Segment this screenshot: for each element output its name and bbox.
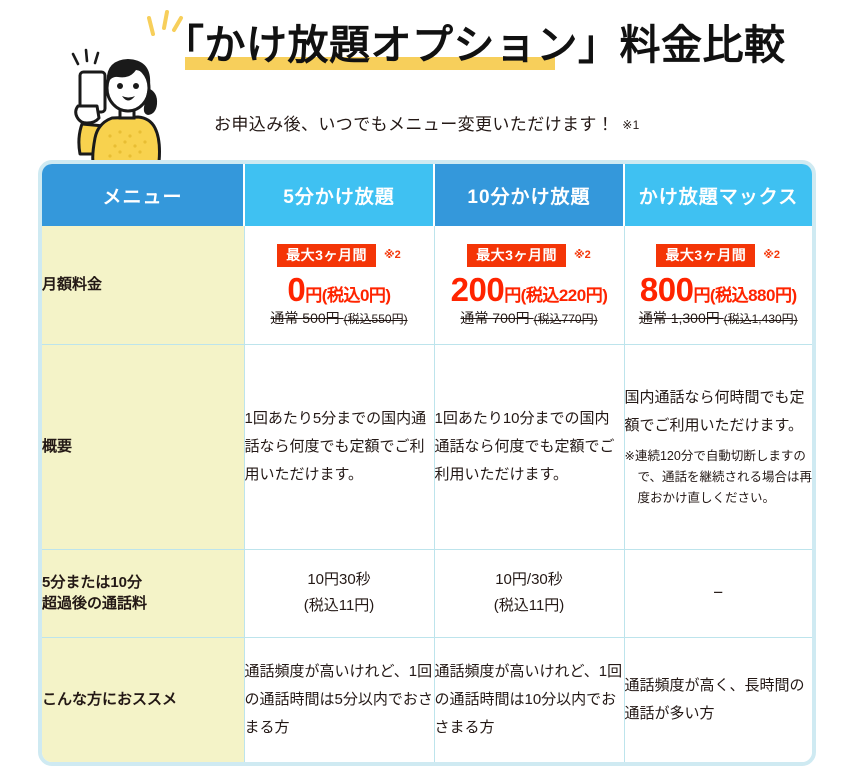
cell-overview-max: 国内通話なら何時間でも定額でご利用いただけます。 ※連続120分で自動切断します…: [624, 344, 812, 549]
price-current: 0円(税込0円): [287, 272, 390, 308]
page-title: 「かけ放題オプション」料金比較: [163, 16, 786, 74]
page-subtitle: お申込み後、いつでもメニュー変更いただけます！※1: [214, 112, 640, 138]
overage-rate-tax: (税込11円): [494, 597, 565, 614]
price-original-tax: (税込550円): [344, 312, 408, 326]
price-current: 200円(税込220円): [451, 272, 608, 308]
cell-overage-5min: 10円30秒 (税込11円): [244, 549, 434, 637]
cell-overview-5min: 1回あたり5分までの国内通話なら何度でも定額でご利用いただけます。: [244, 344, 434, 549]
table-row-monthly-fee: 月額料金 最大3ヶ月間 ※2 0円(税込0円) 通常 500円 (税込550円): [42, 226, 812, 344]
price-original: 通常 500円 (税込550円): [270, 311, 407, 325]
promo-badge-note: ※2: [763, 250, 780, 261]
overage-rate: 10円30秒: [307, 571, 370, 588]
cell-monthly-fee-5min: 最大3ヶ月間 ※2 0円(税込0円) 通常 500円 (税込550円): [244, 226, 434, 344]
price-original-base: 通常 500円: [270, 310, 343, 326]
overview-footnote: ※連続120分で自動切断しますので、通話を継続される場合は再度おかけ直しください…: [625, 446, 813, 509]
price-original-tax: (税込770円): [534, 312, 598, 326]
price-amount: 800: [640, 271, 694, 308]
column-header-10min: 10分かけ放題: [434, 164, 624, 226]
promo-badge: 最大3ヶ月間: [467, 244, 566, 267]
price-amount: 200: [451, 271, 505, 308]
page-subtitle-note: ※1: [622, 118, 640, 132]
table-row-overview: 概要 1回あたり5分までの国内通話なら何度でも定額でご利用いただけます。 1回あ…: [42, 344, 812, 549]
promo-badge-note: ※2: [384, 250, 401, 261]
cell-overage-max: −: [624, 549, 812, 637]
price-original-base: 通常 700円: [460, 310, 533, 326]
overview-text: 国内通話なら何時間でも定額でご利用いただけます。: [625, 384, 813, 440]
page-title-wrap: 「かけ放題オプション」料金比較: [163, 16, 763, 74]
cell-recommended-max: 通話頻度が高く、長時間の通話が多い方: [624, 637, 812, 762]
row-label-overage-line1: 5分または10分: [42, 574, 142, 591]
page-subtitle-text: お申込み後、いつでもメニュー変更いただけます！: [214, 115, 614, 134]
table-header-row: メニュー 5分かけ放題 10分かけ放題 かけ放題マックス: [42, 164, 812, 226]
overage-rate: 10円/30秒: [495, 571, 563, 588]
row-label-recommended-for: こんな方におススメ: [42, 637, 244, 762]
cell-monthly-fee-max: 最大3ヶ月間 ※2 800円(税込880円) 通常 1,300円 (税込1,43…: [624, 226, 812, 344]
price-current: 800円(税込880円): [640, 272, 797, 308]
promo-badge-note: ※2: [574, 250, 591, 261]
overview-text: 1回あたり5分までの国内通話なら何度でも定額でご利用いただけます。: [245, 405, 434, 489]
overage-rate-none: −: [713, 583, 723, 602]
price-amount: 0: [287, 271, 305, 308]
row-label-overview: 概要: [42, 344, 244, 549]
row-label-overage-line2: 超過後の通話料: [42, 595, 147, 612]
price-original-base: 通常 1,300円: [639, 310, 724, 326]
cell-overview-10min: 1回あたり10分までの国内通話なら何度でも定額でご利用いただけます。: [434, 344, 624, 549]
price-unit: 円(税込0円): [305, 286, 390, 305]
pricing-comparison-table-frame: メニュー 5分かけ放題 10分かけ放題 かけ放題マックス 月額料金 最大3ヶ月間…: [38, 160, 816, 766]
price-original: 通常 1,300円 (税込1,430円): [639, 311, 798, 325]
cell-monthly-fee-10min: 最大3ヶ月間 ※2 200円(税込220円) 通常 700円 (税込770円): [434, 226, 624, 344]
overview-text: 1回あたり10分までの国内通話なら何度でも定額でご利用いただけます。: [435, 405, 624, 489]
row-label-monthly-fee: 月額料金: [42, 226, 244, 344]
column-header-5min: 5分かけ放題: [244, 164, 434, 226]
recommended-text: 通話頻度が高いけれど、1回の通話時間は10分以内でおさまる方: [435, 658, 624, 742]
table-row-overage-rate: 5分または10分 超過後の通話料 10円30秒 (税込11円) 10円/30秒 …: [42, 549, 812, 637]
promo-badge: 最大3ヶ月間: [277, 244, 376, 267]
recommended-text: 通話頻度が高いけれど、1回の通話時間は5分以内でおさまる方: [245, 658, 434, 742]
table-row-recommended-for: こんな方におススメ 通話頻度が高いけれど、1回の通話時間は5分以内でおさまる方 …: [42, 637, 812, 762]
cell-recommended-5min: 通話頻度が高いけれど、1回の通話時間は5分以内でおさまる方: [244, 637, 434, 762]
cell-overage-10min: 10円/30秒 (税込11円): [434, 549, 624, 637]
recommended-text: 通話頻度が高く、長時間の通話が多い方: [625, 672, 813, 728]
pricing-comparison-table: メニュー 5分かけ放題 10分かけ放題 かけ放題マックス 月額料金 最大3ヶ月間…: [42, 164, 812, 762]
overage-rate-tax: (税込11円): [304, 597, 375, 614]
cell-recommended-10min: 通話頻度が高いけれど、1回の通話時間は10分以内でおさまる方: [434, 637, 624, 762]
price-unit: 円(税込220円): [504, 286, 607, 305]
price-original: 通常 700円 (税込770円): [460, 311, 597, 325]
price-original-tax: (税込1,430円): [724, 312, 798, 326]
promo-badge: 最大3ヶ月間: [656, 244, 755, 267]
column-header-menu: メニュー: [42, 164, 244, 226]
price-unit: 円(税込880円): [693, 286, 796, 305]
column-header-max: かけ放題マックス: [624, 164, 812, 226]
page-header: 「かけ放題オプション」料金比較 お申込み後、いつでもメニュー変更いただけます！※…: [0, 0, 854, 160]
sparkle-icon: [147, 8, 187, 42]
row-label-overage-rate: 5分または10分 超過後の通話料: [42, 549, 244, 637]
